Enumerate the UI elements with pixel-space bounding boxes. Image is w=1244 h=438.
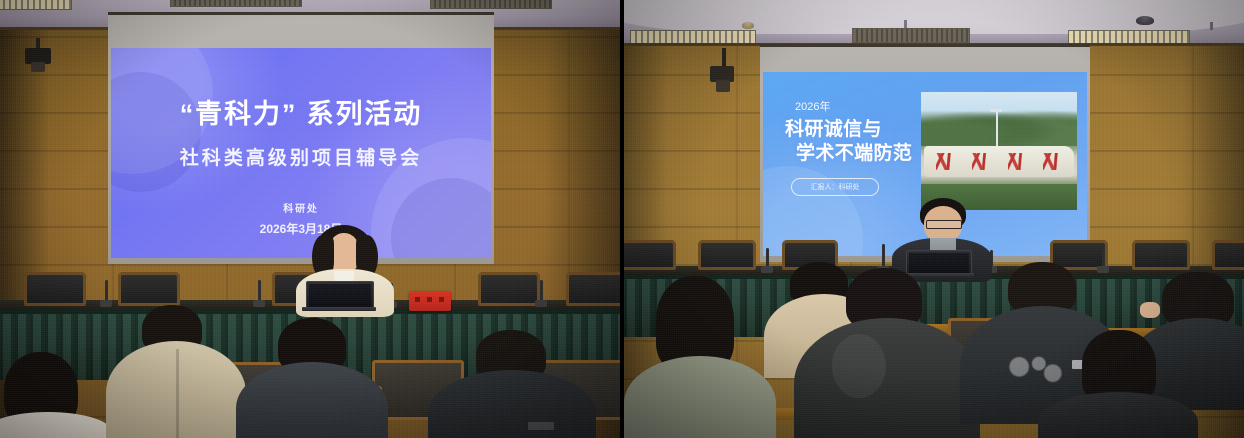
jacket-highlight — [832, 334, 886, 398]
laptop-base — [302, 307, 376, 311]
head-table-chair — [1132, 240, 1190, 270]
photo-panel-left: “青科力” 系列活动 社科类高级别项目辅导会 科研处 2026年3月18日 — [0, 0, 620, 438]
ceiling-light-grid — [0, 0, 72, 10]
calligraphy-char — [1008, 153, 1027, 170]
microphone-base — [253, 300, 265, 307]
ceiling-light-grid — [630, 30, 756, 44]
screen-top-hem — [760, 44, 1090, 47]
lecture-hall-left: “青科力” 系列活动 社科类高级别项目辅导会 科研处 2026年3月18日 — [0, 0, 620, 438]
jacket-seam — [176, 349, 179, 438]
head-table-chair — [566, 272, 620, 306]
jacket-logo — [528, 422, 554, 430]
slide-subtitle: 社科类高级别项目辅导会 — [111, 143, 491, 170]
laptop-left — [306, 281, 374, 310]
slide-title-line1: 科研诚信与 — [785, 118, 882, 142]
head-table-chair — [478, 272, 540, 306]
ceiling-sprinkler-icon — [904, 20, 907, 28]
projector-body — [716, 80, 730, 92]
photo-treeline — [921, 106, 1077, 146]
eyeglasses-icon — [926, 220, 962, 229]
panel-divider — [620, 0, 624, 438]
head-table-chair — [1212, 240, 1244, 270]
audience-shoulders — [794, 318, 980, 438]
ceiling-vent-icon — [430, 0, 552, 9]
head-table-chair — [698, 240, 756, 270]
photo-lamp-head — [990, 109, 1002, 112]
name-plate-text — [415, 297, 445, 302]
audience-member — [802, 268, 962, 438]
audience-shoulders — [428, 370, 596, 438]
dome-camera-icon — [1136, 16, 1154, 25]
slide-photo-campus-stone — [921, 92, 1077, 210]
audience-shoulders — [236, 362, 388, 438]
slide-presenter-badge: 汇报人：科研处 — [791, 178, 879, 196]
ceiling-light-grid — [1068, 30, 1190, 44]
audience-member — [634, 276, 764, 438]
ceiling-vent-icon — [170, 0, 302, 7]
screenshot-root: “青科力” 系列活动 社科类高级别项目辅导会 科研处 2026年3月18日 — [0, 0, 1244, 438]
ceiling-vent-icon — [852, 28, 970, 43]
head-table-chair — [624, 240, 676, 270]
audience-shoulders — [624, 356, 776, 438]
wall-speaker-body — [31, 62, 45, 72]
audience-face-profile — [1140, 302, 1160, 318]
audience-member — [242, 318, 382, 438]
audience-shoulders — [1038, 392, 1198, 438]
screen-top-hem — [108, 12, 494, 15]
ceiling-sprinkler-icon — [1210, 22, 1213, 30]
slide-title-line2: 学术不端防范 — [796, 142, 912, 166]
head-table-chair — [24, 272, 86, 306]
slide-organization: 科研处 — [111, 200, 491, 215]
lecture-hall-right: 2026年 科研诚信与 学术不端防范 汇报人：科研处 — [624, 0, 1244, 438]
photo-calligraphy — [927, 151, 1071, 172]
slide-title: “青科力” 系列活动 — [111, 92, 491, 131]
calligraphy-char — [972, 153, 991, 170]
head-table-chair — [118, 272, 180, 306]
laptop-screen — [309, 284, 371, 307]
audience-member — [1048, 330, 1186, 438]
photo-panel-right: 2026年 科研诚信与 学术不端防范 汇报人：科研处 — [624, 0, 1244, 438]
audience-member — [436, 330, 586, 438]
slide-year: 2026年 — [795, 98, 830, 114]
audience-member — [0, 352, 100, 438]
ceiling-right — [624, 0, 1244, 46]
audience-shoulders — [0, 412, 112, 438]
ceiling-speaker-icon — [742, 22, 754, 29]
name-plate-card — [409, 291, 451, 311]
calligraphy-char — [936, 153, 955, 170]
audience-member — [110, 305, 238, 438]
microphone-base — [535, 300, 547, 307]
calligraphy-char — [1043, 153, 1062, 170]
